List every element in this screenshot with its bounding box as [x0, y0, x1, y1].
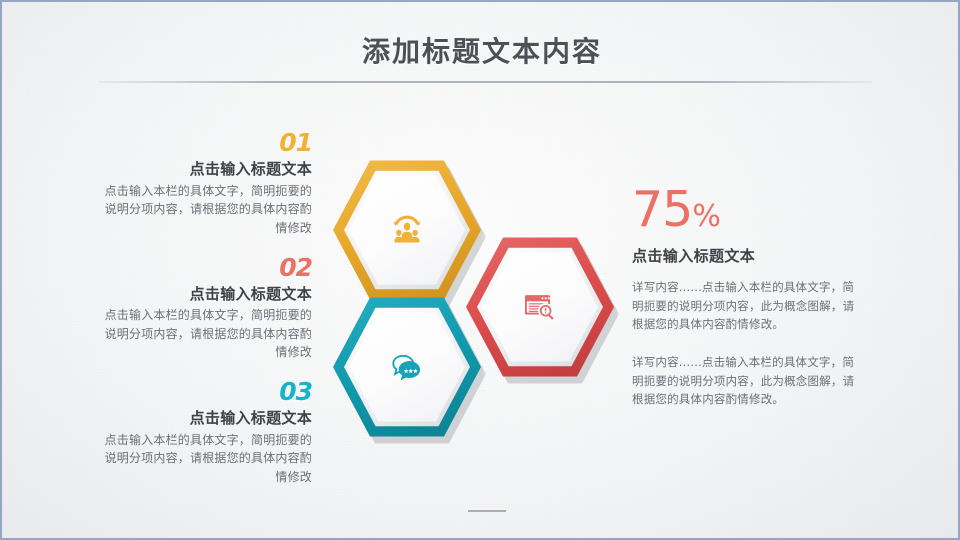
- hexagon-feedback[interactable]: [333, 293, 481, 441]
- page-title: 添加标题文本内容: [2, 30, 960, 70]
- left-item-01-number: 01: [98, 130, 312, 156]
- chat-bubbles-stars-icon: [333, 293, 481, 441]
- left-item-03-number: 03: [98, 379, 312, 405]
- browser-search-icon: [466, 233, 614, 381]
- footer-dash-mark: [468, 510, 506, 512]
- title-divider: [98, 81, 872, 83]
- hexagon-teamwork[interactable]: [333, 156, 481, 304]
- right-paragraph-1: 详写内容......点击输入本栏的具体文字，简明扼要的说明分项内容，此为概念图解…: [632, 278, 864, 334]
- right-heading: 点击输入标题文本: [632, 245, 864, 266]
- left-items-column: 01 点击输入标题文本 点击输入本栏的具体文字，简明扼要的说明分项内容，请根据您…: [98, 130, 312, 487]
- right-detail-column: 75% 点击输入标题文本 详写内容......点击输入本栏的具体文字，简明扼要的…: [632, 185, 864, 409]
- hexagon-cluster: [327, 152, 617, 452]
- left-item-02-number: 02: [98, 255, 312, 281]
- slide-canvas: 添加标题文本内容 01 点击输入标题文本 点击输入本栏的具体文字，简明扼要的说明…: [0, 0, 960, 540]
- left-item-01[interactable]: 01 点击输入标题文本 点击输入本栏的具体文字，简明扼要的说明分项内容，请根据您…: [98, 130, 312, 238]
- people-cycle-icon: [333, 156, 481, 304]
- left-item-02-heading: 点击输入标题文本: [98, 283, 312, 306]
- left-item-01-heading: 点击输入标题文本: [98, 158, 312, 181]
- percent-number: 75: [632, 181, 692, 238]
- left-item-03[interactable]: 03 点击输入标题文本 点击输入本栏的具体文字，简明扼要的说明分项内容，请根据您…: [98, 379, 312, 487]
- right-paragraph-2: 详写内容......点击输入本栏的具体文字，简明扼要的说明分项内容，此为概念图解…: [632, 353, 864, 409]
- hexagon-research[interactable]: [466, 233, 614, 381]
- percent-symbol: %: [692, 199, 720, 234]
- left-item-03-heading: 点击输入标题文本: [98, 407, 312, 430]
- left-item-02[interactable]: 02 点击输入标题文本 点击输入本栏的具体文字，简明扼要的说明分项内容，请根据您…: [98, 255, 312, 363]
- left-item-02-body: 点击输入本栏的具体文字，简明扼要的说明分项内容，请根据您的具体内容酌情修改: [98, 306, 312, 362]
- percent-value: 75%: [632, 185, 864, 234]
- left-item-03-body: 点击输入本栏的具体文字，简明扼要的说明分项内容，请根据您的具体内容酌情修改: [98, 431, 312, 487]
- left-item-01-body: 点击输入本栏的具体文字，简明扼要的说明分项内容，请根据您的具体内容酌情修改: [98, 182, 312, 238]
